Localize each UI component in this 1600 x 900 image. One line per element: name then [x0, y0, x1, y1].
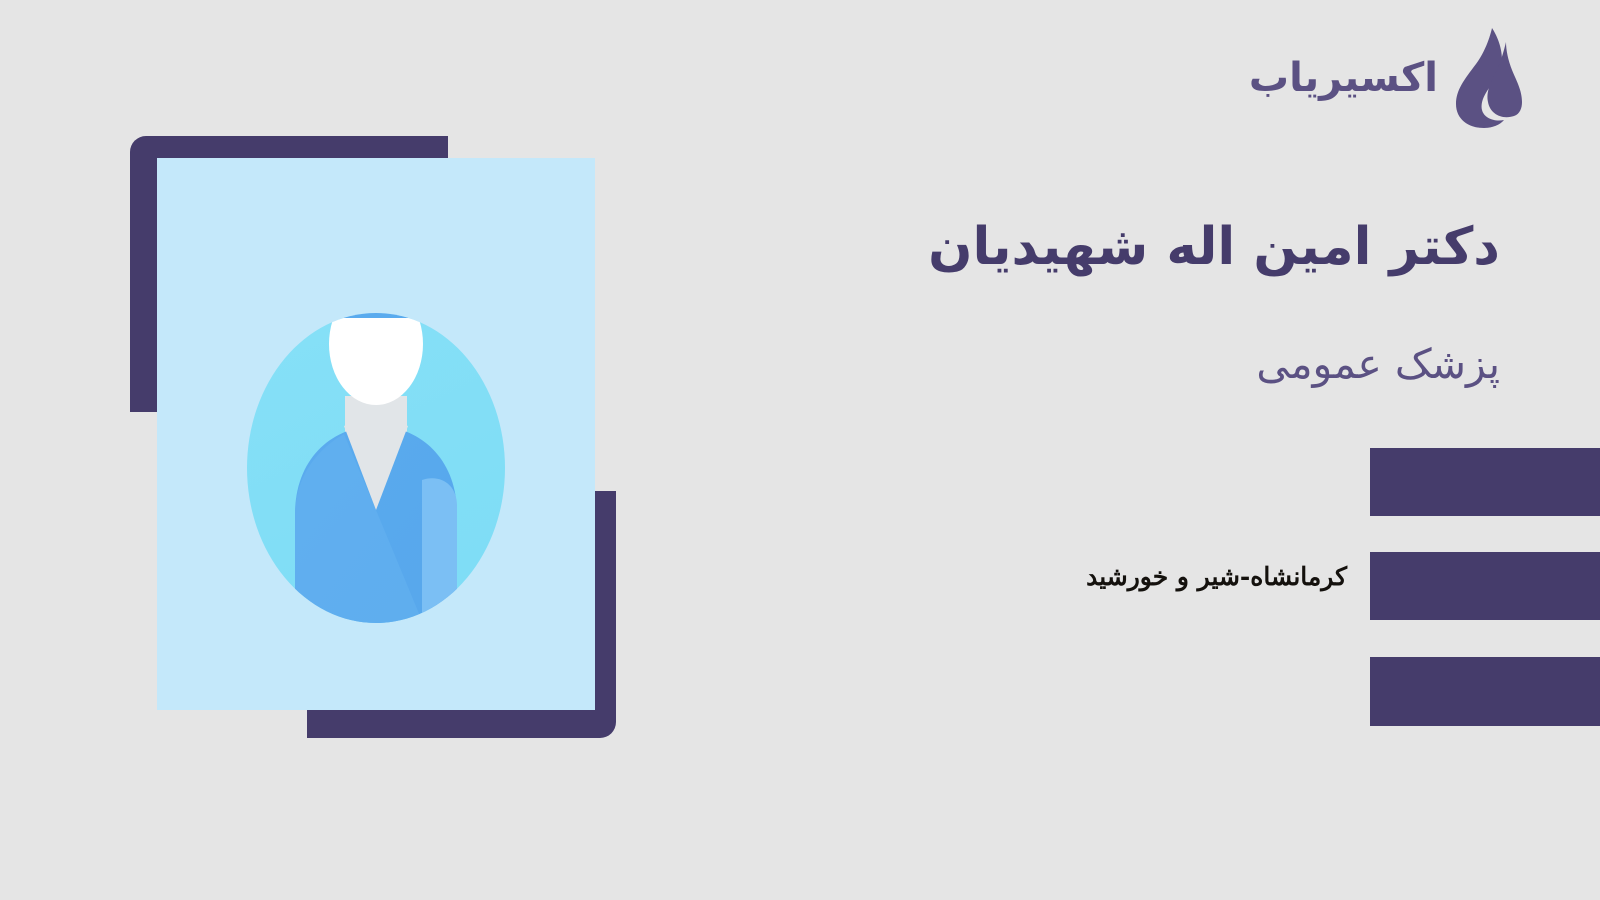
decor-bar-2: [1370, 552, 1600, 620]
doctor-specialty: پزشک عمومی: [1256, 340, 1500, 389]
brand-name: اکسیریاب: [1249, 58, 1438, 98]
doctor-avatar: [157, 158, 595, 710]
brand-logo[interactable]: اکسیریاب: [1249, 26, 1522, 130]
page-title: دکتر امین اله شهیدیان: [928, 218, 1500, 278]
decor-bar-3: [1370, 657, 1600, 726]
doctor-address: کرمانشاه-شیر و خورشید: [1086, 562, 1347, 592]
doctor-illustration: [130, 136, 620, 740]
profile-banner: اکسیریاب: [0, 0, 1600, 900]
flame-icon: [1448, 26, 1522, 130]
decor-bar-1: [1370, 448, 1600, 516]
